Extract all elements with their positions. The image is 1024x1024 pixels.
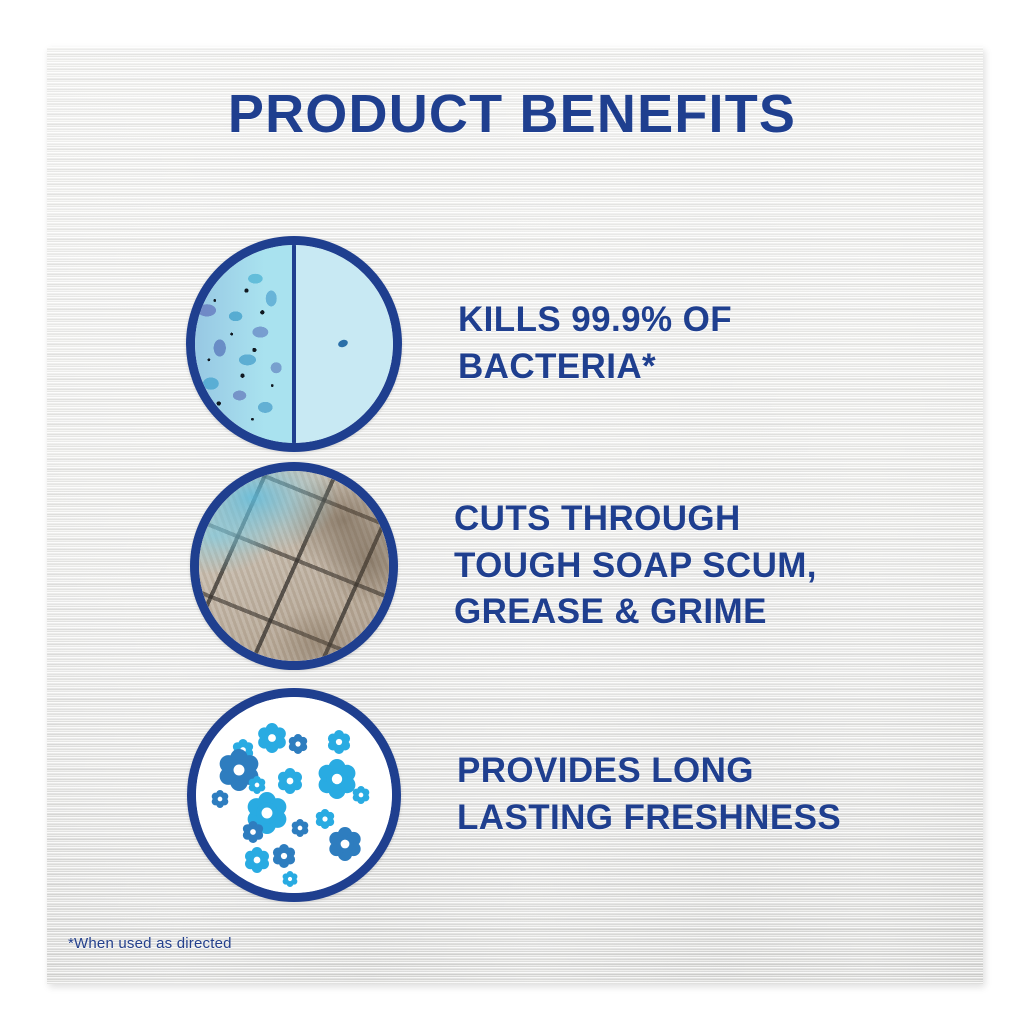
benefit-text-cuts-soap-scum: CUTS THROUGH TOUGH SOAP SCUM, GREASE & G… — [454, 496, 946, 636]
tile-floor-image — [190, 462, 398, 670]
bacteria-before-half — [195, 245, 294, 443]
flower-icon — [282, 871, 298, 887]
benefit-line: PROVIDES LONG — [457, 748, 946, 795]
benefit-line: CUTS THROUGH — [454, 496, 946, 543]
flowers-freshness-image — [187, 688, 401, 902]
benefit-line: LASTING FRESHNESS — [457, 795, 946, 842]
infographic-stage: PRODUCT BENEFITS KILLS 99.9% OF BACTERIA… — [0, 0, 1024, 1024]
flower-icon — [352, 786, 370, 804]
flower-icon — [315, 809, 335, 829]
flower-field — [196, 697, 392, 893]
benefit-text-long-lasting-freshness: PROVIDES LONG LASTING FRESHNESS — [457, 748, 946, 841]
bacteria-image-inner — [195, 245, 393, 443]
flower-icon — [277, 768, 303, 794]
benefit-row-cuts-soap-scum: CUTS THROUGH TOUGH SOAP SCUM, GREASE & G… — [186, 462, 946, 670]
flower-icon — [327, 730, 351, 754]
benefit-line: KILLS 99.9% OF — [458, 297, 946, 344]
benefit-row-long-lasting-freshness: PROVIDES LONG LASTING FRESHNESS — [186, 688, 946, 902]
flower-icon — [291, 819, 309, 837]
flower-icon — [244, 847, 270, 873]
flower-icon — [211, 790, 229, 808]
bacteria-before-after-image — [186, 236, 402, 452]
benefit-row-kills-bacteria: KILLS 99.9% OF BACTERIA* — [186, 236, 946, 452]
tile-image-inner — [199, 471, 389, 661]
before-after-divider-line — [292, 245, 296, 443]
flower-icon — [288, 734, 308, 754]
benefit-line: BACTERIA* — [458, 344, 946, 391]
benefit-line: TOUGH SOAP SCUM, — [454, 543, 946, 590]
benefit-line: GREASE & GRIME — [454, 589, 946, 636]
flower-icon — [328, 827, 362, 861]
bacteria-after-half — [294, 245, 393, 443]
page-title: PRODUCT BENEFITS — [0, 83, 1024, 145]
benefit-text-kills-bacteria: KILLS 99.9% OF BACTERIA* — [458, 297, 946, 390]
flower-icon — [257, 723, 287, 753]
footnote-disclaimer: *When used as directed — [68, 935, 232, 952]
tiled-floor-photo — [199, 471, 389, 661]
flowers-image-inner — [196, 697, 392, 893]
flower-icon — [272, 844, 296, 868]
flower-icon — [242, 821, 264, 843]
